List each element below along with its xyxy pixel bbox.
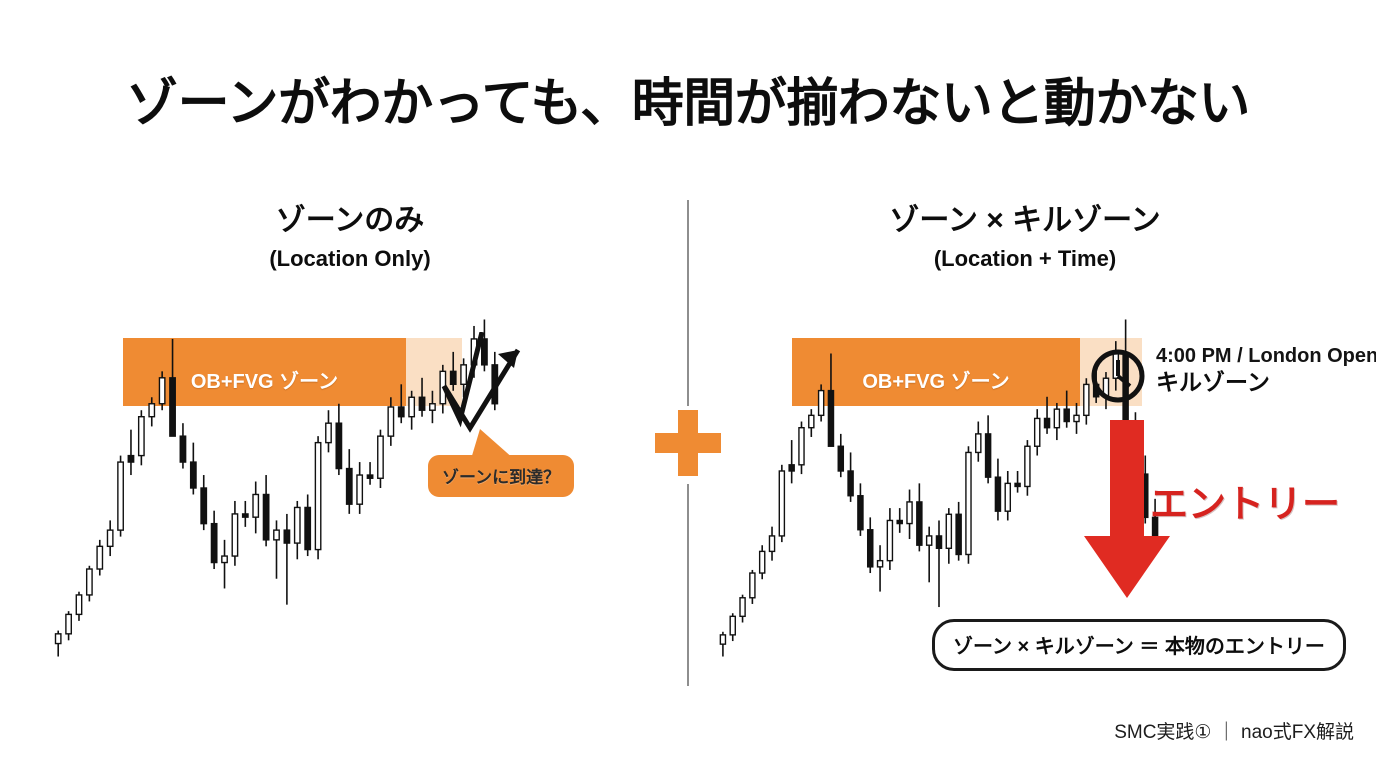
candle-body-bearish (858, 496, 863, 530)
candle-body-bullish (946, 514, 951, 548)
candle-body-bullish (887, 520, 892, 560)
candle-body-bearish (305, 507, 310, 549)
killzone-time-label: 4:00 PM / London Open (1156, 345, 1376, 367)
candle-body-bullish (1084, 384, 1089, 415)
candle-body-bullish (907, 502, 912, 524)
candle-body-bearish (828, 391, 833, 447)
candle-body-bearish (917, 502, 922, 545)
candle-body-bullish (760, 551, 765, 573)
candle-body-bearish (1044, 418, 1049, 427)
candle-body-bullish (295, 507, 300, 543)
panel-divider-top (687, 200, 689, 406)
candle-body-bearish (1064, 409, 1069, 421)
candle-body-bullish (87, 569, 92, 595)
candle-body-bullish (315, 443, 320, 550)
candle-body-bullish (118, 462, 123, 530)
candle-body-bullish (222, 556, 227, 562)
candle-body-bullish (274, 530, 279, 540)
killzone-annotation: 4:00 PM / London Open キルゾーン (1156, 345, 1376, 396)
candle-body-bullish (409, 397, 414, 416)
page-title: ゾーンがわかっても、時間が揃わないと動かない (0, 76, 1376, 133)
candle-body-bullish (326, 423, 331, 442)
candle-body-bullish (55, 634, 60, 644)
candle-body-bullish (1074, 415, 1079, 421)
candle-body-bearish (128, 456, 133, 462)
candle-body-bearish (191, 462, 196, 488)
candle-body-bullish (1005, 483, 1010, 511)
clock-icon-minute-hand (1118, 376, 1130, 386)
candle-body-bearish (399, 407, 404, 417)
candle-body-bullish (740, 598, 745, 617)
candle-body-bearish (180, 436, 185, 462)
candle-body-bullish (819, 391, 824, 416)
candle-body-bullish (769, 536, 774, 551)
candle-body-bullish (1025, 446, 1030, 486)
candle-body-bullish (1054, 409, 1059, 428)
candle-body-bullish (149, 404, 154, 417)
candle-body-bearish (263, 494, 268, 539)
candle-body-bearish (789, 465, 794, 471)
zone-label-left: OB+FVG ゾーン (123, 365, 406, 394)
candle-body-bearish (284, 530, 289, 543)
candle-body-bullish (107, 530, 112, 546)
candle-body-bearish (336, 423, 341, 468)
candle-body-bullish (720, 635, 725, 644)
candle-body-bullish (966, 452, 971, 554)
candle-body-bullish (357, 475, 362, 504)
candle-body-bullish (927, 536, 932, 545)
candle-body-bullish (779, 471, 784, 536)
clock-icon (1090, 348, 1146, 404)
candle-body-bearish (995, 477, 1000, 511)
candle-body-bearish (211, 524, 216, 563)
panel-heading-left-jp: ゾーンのみ (160, 204, 540, 239)
panel-heading-left-en: (Location Only) (160, 246, 540, 271)
candlestick-series-left (45, 300, 645, 700)
panel-heading-right: ゾーン × キルゾーン (Location + Time) (830, 204, 1220, 271)
panel-heading-right-en: (Location + Time) (830, 246, 1220, 271)
candle-body-bearish (1015, 483, 1020, 486)
candle-body-bullish (232, 514, 237, 556)
candle-body-bearish (897, 520, 902, 523)
candle-body-bearish (936, 536, 941, 548)
candlestick-chart-left (45, 300, 645, 700)
zone-label-right: OB+FVG ゾーン (792, 365, 1080, 394)
candle-body-bearish (838, 446, 843, 471)
candle-body-bearish (367, 475, 372, 478)
candle-body-bullish (139, 417, 144, 456)
candle-body-bearish (419, 397, 424, 410)
footer-credit: SMC実践① ｜ nao式FX解説 (1114, 717, 1354, 744)
candle-body-bullish (976, 434, 981, 453)
candle-body-bearish (868, 530, 873, 567)
candle-body-bullish (388, 407, 393, 436)
candle-body-bearish (956, 514, 961, 554)
candle-body-bullish (878, 561, 883, 567)
callout-zone-reached: ゾーンに到達？ (428, 455, 574, 497)
panel-heading-right-jp: ゾーン × キルゾーン (830, 204, 1220, 239)
candle-body-bullish (66, 614, 71, 633)
candle-body-bearish (986, 434, 991, 477)
candle-body-bullish (799, 428, 804, 465)
candle-body-bullish (730, 616, 735, 635)
candle-body-bullish (1035, 418, 1040, 446)
candle-body-bullish (76, 595, 81, 614)
entry-label: エントリー (1150, 473, 1340, 528)
conclusion-box: ゾーン × キルゾーン ＝ 本物のエントリー (932, 619, 1346, 671)
candle-body-bullish (430, 404, 435, 410)
candle-body-bullish (809, 415, 814, 427)
killzone-label: キルゾーン (1156, 370, 1376, 396)
candle-body-bullish (253, 494, 258, 517)
panel-divider-bottom (687, 484, 689, 686)
candle-body-bullish (97, 546, 102, 569)
candle-body-bearish (243, 514, 248, 517)
candle-body-bearish (201, 488, 206, 524)
candle-body-bearish (347, 469, 352, 505)
candle-body-bullish (750, 573, 755, 598)
panel-heading-left: ゾーンのみ (Location Only) (160, 204, 540, 271)
candle-body-bearish (848, 471, 853, 496)
candle-body-bullish (378, 436, 383, 478)
plus-icon-vertical-bar (678, 410, 698, 476)
up-arrow-path (444, 332, 518, 428)
